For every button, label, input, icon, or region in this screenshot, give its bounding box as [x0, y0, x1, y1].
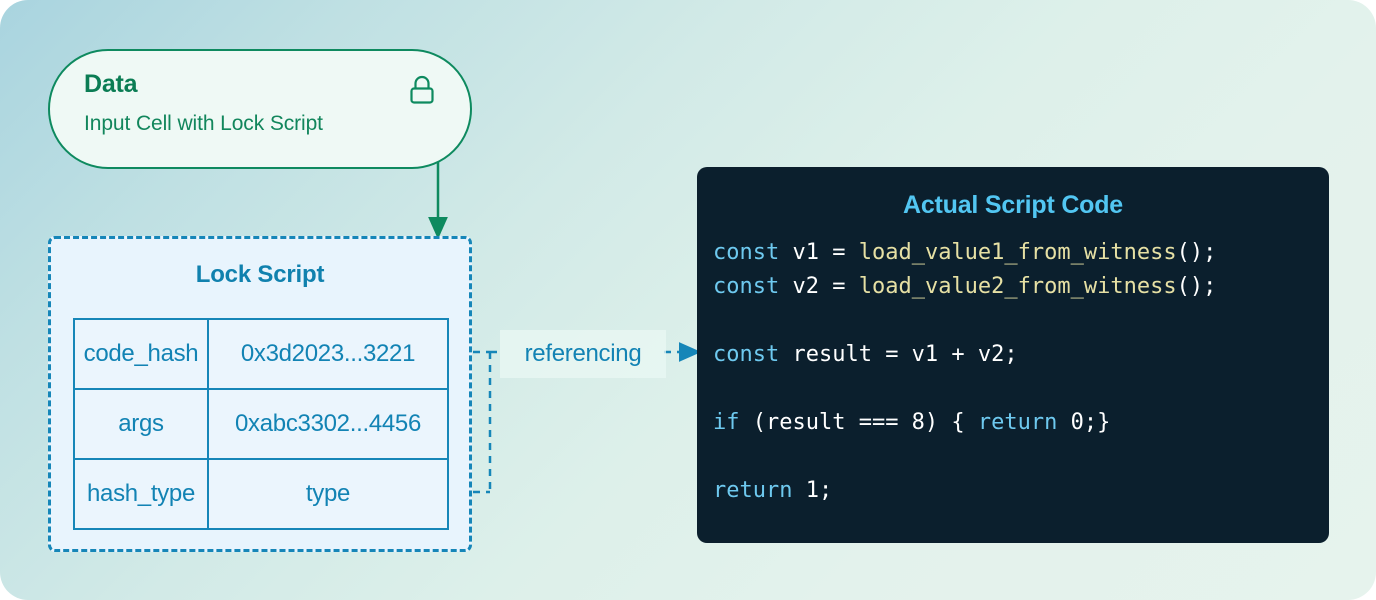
code-line: const result = v1 + v2; [713, 338, 1329, 372]
code-token: return [978, 410, 1057, 435]
code-line: const v1 = load_value1_from_witness(); [713, 236, 1329, 270]
field-key: args [74, 389, 208, 459]
code-token: 1; [792, 478, 832, 503]
actual-script-code-panel: Actual Script Code const v1 = load_value… [697, 167, 1329, 543]
code-token: const [713, 342, 779, 367]
data-cell-title: Data [84, 67, 440, 101]
code-token: result = v1 + v2; [779, 342, 1017, 367]
code-line: if (result === 8) { return 0;} [713, 406, 1329, 440]
field-value: 0x3d2023...3221 [208, 319, 448, 389]
table-row: code_hash 0x3d2023...3221 [74, 319, 448, 389]
table-row: hash_type type [74, 459, 448, 529]
code-token: 0;} [1057, 410, 1110, 435]
field-value: type [208, 459, 448, 529]
input-cell-capsule: Data Input Cell with Lock Script [48, 49, 472, 169]
code-token: const [713, 274, 779, 299]
code-token: return [713, 478, 792, 503]
data-cell-subtitle: Input Cell with Lock Script [84, 107, 440, 141]
code-body: const v1 = load_value1_from_witness();co… [697, 236, 1329, 508]
code-token: (result === 8) { [740, 410, 978, 435]
code-token: load_value2_from_witness [859, 274, 1177, 299]
code-token: (); [1177, 274, 1217, 299]
field-key: hash_type [74, 459, 208, 529]
lock-icon [406, 74, 438, 110]
code-line [713, 304, 1329, 338]
code-panel-title: Actual Script Code [697, 191, 1329, 220]
code-line: const v2 = load_value2_from_witness(); [713, 270, 1329, 304]
field-key: code_hash [74, 319, 208, 389]
lock-script-title: Lock Script [51, 261, 469, 289]
diagram-canvas: Data Input Cell with Lock Script Lock Sc… [0, 0, 1376, 600]
code-token: (); [1177, 240, 1217, 265]
code-token: v2 = [779, 274, 858, 299]
field-value: 0xabc3302...4456 [208, 389, 448, 459]
code-line [713, 440, 1329, 474]
code-token: load_value1_from_witness [859, 240, 1177, 265]
lock-script-fields-table: code_hash 0x3d2023...3221 args 0xabc3302… [73, 318, 449, 530]
table-row: args 0xabc3302...4456 [74, 389, 448, 459]
code-line: return 1; [713, 474, 1329, 508]
code-token: const [713, 240, 779, 265]
code-token: if [713, 410, 740, 435]
code-token: v1 = [779, 240, 858, 265]
code-line [713, 372, 1329, 406]
referencing-label: referencing [500, 330, 666, 378]
